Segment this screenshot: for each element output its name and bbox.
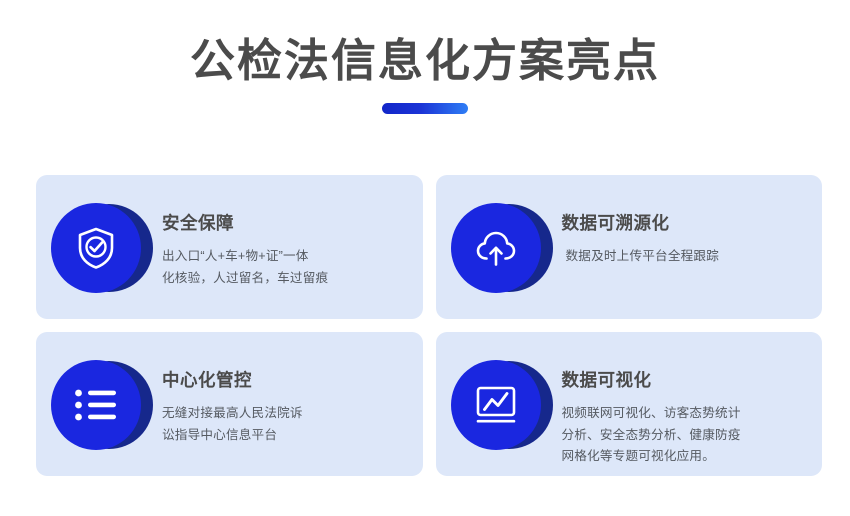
card-description-line: 数据及时上传平台全程跟踪 [562, 246, 805, 268]
icon-badge [51, 360, 143, 452]
chart-monitor-icon [474, 385, 518, 425]
card-text-block: 中心化管控 无缝对接最高人民法院诉 讼指导中心信息平台 [143, 358, 405, 446]
icon-badge [451, 203, 543, 295]
feature-card-security[interactable]: 安全保障 出入口“人+车+物+证”一体 化核验，人过留名，车过留痕 [36, 175, 423, 319]
card-title: 数据可视化 [562, 370, 805, 391]
shield-check-icon [76, 226, 116, 270]
icon-circle [451, 203, 541, 293]
card-title: 中心化管控 [162, 370, 405, 391]
card-description-line: 视频联网可视化、访客态势统计 [562, 403, 805, 425]
icon-circle [51, 203, 141, 293]
feature-card-traceability[interactable]: 数据可溯源化 数据及时上传平台全程跟踪 [436, 175, 823, 319]
feature-card-grid: 安全保障 出入口“人+车+物+证”一体 化核验，人过留名，车过留痕 [36, 175, 822, 476]
card-description-line: 分析、安全态势分析、健康防疫 [562, 425, 805, 447]
icon-circle [451, 360, 541, 450]
card-description-line: 讼指导中心信息平台 [162, 425, 405, 447]
card-description-line: 网格化等专题可视化应用。 [562, 446, 805, 468]
page-title: 公检法信息化方案亮点 [0, 34, 850, 87]
icon-badge [51, 203, 143, 295]
card-description-line: 出入口“人+车+物+证”一体 [162, 246, 405, 268]
card-title: 安全保障 [162, 213, 405, 234]
cloud-upload-icon [473, 227, 519, 269]
card-title: 数据可溯源化 [562, 213, 805, 234]
bullet-list-icon [74, 388, 118, 422]
card-description-line: 化核验，人过留名，车过留痕 [162, 268, 405, 290]
icon-badge [451, 360, 543, 452]
title-underline-bar [382, 103, 468, 114]
feature-card-visualization[interactable]: 数据可视化 视频联网可视化、访客态势统计 分析、安全态势分析、健康防疫 网格化等… [436, 332, 823, 476]
card-text-block: 安全保障 出入口“人+车+物+证”一体 化核验，人过留名，车过留痕 [143, 201, 405, 289]
page-header: 公检法信息化方案亮点 [0, 0, 850, 114]
highlights-page: 公检法信息化方案亮点 安全保障 出入口“ [0, 0, 850, 516]
feature-card-centralized-control[interactable]: 中心化管控 无缝对接最高人民法院诉 讼指导中心信息平台 [36, 332, 423, 476]
card-text-block: 数据可溯源化 数据及时上传平台全程跟踪 [543, 201, 805, 268]
card-description-line: 无缝对接最高人民法院诉 [162, 403, 405, 425]
card-text-block: 数据可视化 视频联网可视化、访客态势统计 分析、安全态势分析、健康防疫 网格化等… [543, 358, 805, 468]
icon-circle [51, 360, 141, 450]
